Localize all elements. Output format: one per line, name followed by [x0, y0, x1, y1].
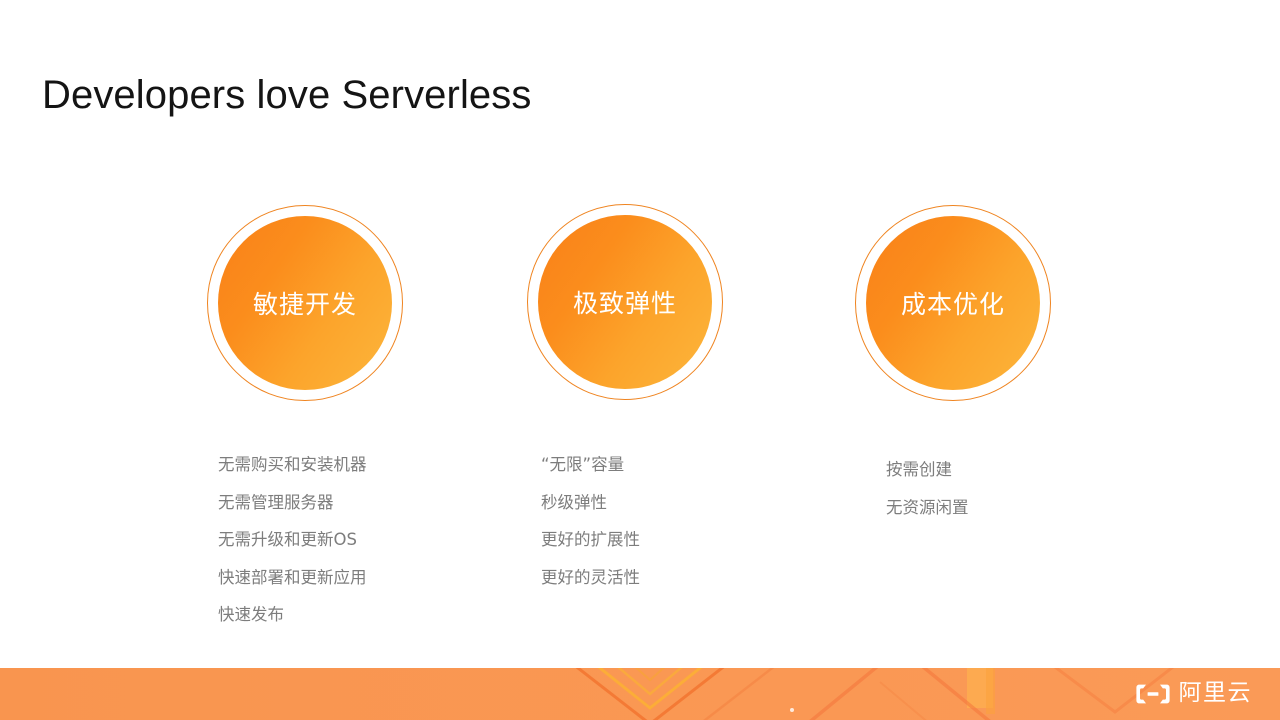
list-item: 按需创建 — [886, 451, 1186, 489]
feature-circle: 极致弹性 — [527, 204, 723, 400]
page-title: Developers love Serverless — [42, 73, 531, 118]
list-item: “无限”容量 — [541, 446, 841, 484]
brand-logo: 阿里云 — [1136, 668, 1253, 720]
circle-label: 敏捷开发 — [253, 285, 357, 321]
footer-band: 阿里云 — [0, 668, 1280, 720]
feature-column: 敏捷开发 无需购买和安装机器 无需管理服务器 无需升级和更新OS 快速部署和更新… — [135, 205, 475, 401]
feature-columns: 敏捷开发 无需购买和安装机器 无需管理服务器 无需升级和更新OS 快速部署和更新… — [0, 205, 1280, 645]
feature-circle: 成本优化 — [855, 205, 1051, 401]
list-item: 无资源闲置 — [886, 489, 1186, 527]
list-item: 无需购买和安装机器 — [218, 446, 518, 484]
list-item: 无需管理服务器 — [218, 484, 518, 522]
circle-gradient-disc: 敏捷开发 — [218, 216, 392, 390]
circle-gradient-disc: 极致弹性 — [538, 215, 712, 389]
feature-circle: 敏捷开发 — [207, 205, 403, 401]
brand-name: 阿里云 — [1179, 682, 1253, 707]
list-item: 更好的灵活性 — [541, 559, 841, 597]
feature-bullet-list: 按需创建 无资源闲置 — [886, 451, 1186, 526]
list-item: 更好的扩展性 — [541, 521, 841, 559]
list-item: 快速部署和更新应用 — [218, 559, 518, 597]
feature-column: 成本优化 按需创建 无资源闲置 — [778, 205, 1118, 401]
feature-column: 极致弹性 “无限”容量 秒级弹性 更好的扩展性 更好的灵活性 — [453, 205, 793, 401]
list-item: 无需升级和更新OS — [218, 521, 518, 559]
alibaba-cloud-mark-icon — [1136, 683, 1170, 705]
feature-bullet-list: “无限”容量 秒级弹性 更好的扩展性 更好的灵活性 — [541, 446, 841, 596]
feature-bullet-list: 无需购买和安装机器 无需管理服务器 无需升级和更新OS 快速部署和更新应用 快速… — [218, 446, 518, 634]
list-item: 快速发布 — [218, 596, 518, 634]
circle-label: 成本优化 — [901, 285, 1005, 321]
list-item: 秒级弹性 — [541, 484, 841, 522]
circle-gradient-disc: 成本优化 — [866, 216, 1040, 390]
circle-label: 极致弹性 — [573, 284, 677, 320]
footer-chevron-pattern — [0, 668, 1280, 720]
slide-canvas: Developers love Serverless 敏捷开发 无需购买和安装机… — [0, 0, 1280, 720]
